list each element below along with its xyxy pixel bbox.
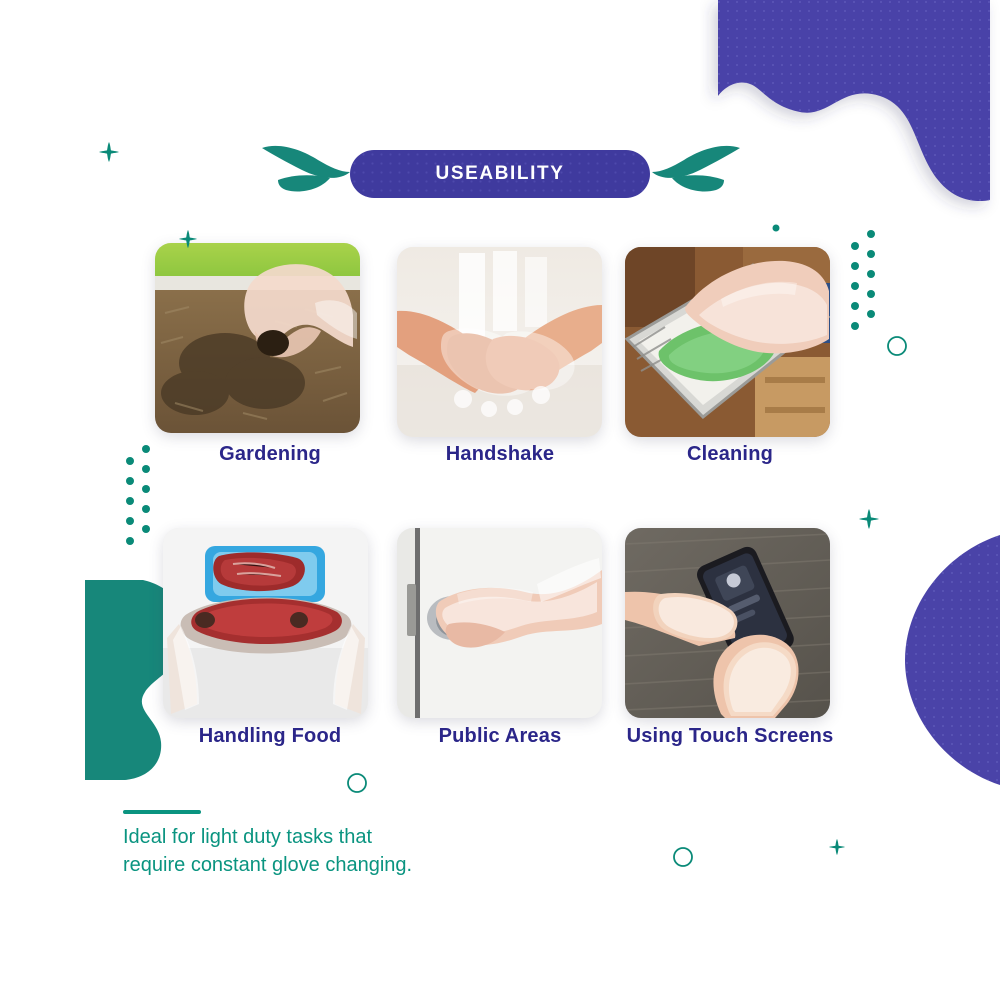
dot-mark-icon <box>770 222 788 240</box>
dot-grid-decoration <box>845 228 885 338</box>
purple-wave-blob-decoration <box>700 0 1000 240</box>
ring-mark-icon <box>346 772 368 794</box>
ring-mark-icon <box>886 335 908 357</box>
usage-card-gardening[interactable] <box>155 243 360 433</box>
plus-mark-icon <box>828 838 846 856</box>
ring-mark-icon <box>672 846 694 868</box>
ribbon-right-icon <box>648 138 744 198</box>
cleaning-photo <box>625 247 830 437</box>
usage-caption-touch-screens: Using Touch Screens <box>600 725 860 748</box>
purple-half-circle-decoration <box>905 535 1000 785</box>
usage-card-public-areas[interactable] <box>397 528 602 718</box>
plus-mark-icon <box>858 508 880 530</box>
gardening-photo <box>155 243 360 433</box>
usage-caption-gardening: Gardening <box>140 443 400 466</box>
section-badge: USEABILITY <box>350 150 650 198</box>
usage-card-handling-food[interactable] <box>163 528 368 718</box>
footer-rule <box>123 810 201 814</box>
usage-card-cleaning[interactable] <box>625 247 830 437</box>
handling-food-photo <box>163 528 368 718</box>
infographic-canvas: USEABILITY <box>0 0 1000 1000</box>
usage-caption-cleaning: Cleaning <box>600 443 860 466</box>
usage-caption-handling-food: Handling Food <box>140 725 400 748</box>
footer-note-line-1: Ideal for light duty tasks that <box>123 823 583 851</box>
plus-mark-icon <box>98 141 120 163</box>
handshake-photo <box>397 247 602 437</box>
footer-note: Ideal for light duty tasks that require … <box>123 823 583 879</box>
usage-card-touch-screens[interactable] <box>625 528 830 718</box>
touch-screens-photo <box>625 528 830 718</box>
ribbon-left-icon <box>258 138 354 198</box>
usage-caption-handshake: Handshake <box>370 443 630 466</box>
footer-note-line-2: require constant glove changing. <box>123 851 583 879</box>
public-areas-photo <box>397 528 602 718</box>
section-badge-label: USEABILITY <box>436 163 565 185</box>
usage-caption-public-areas: Public Areas <box>370 725 630 748</box>
usage-card-handshake[interactable] <box>397 247 602 437</box>
